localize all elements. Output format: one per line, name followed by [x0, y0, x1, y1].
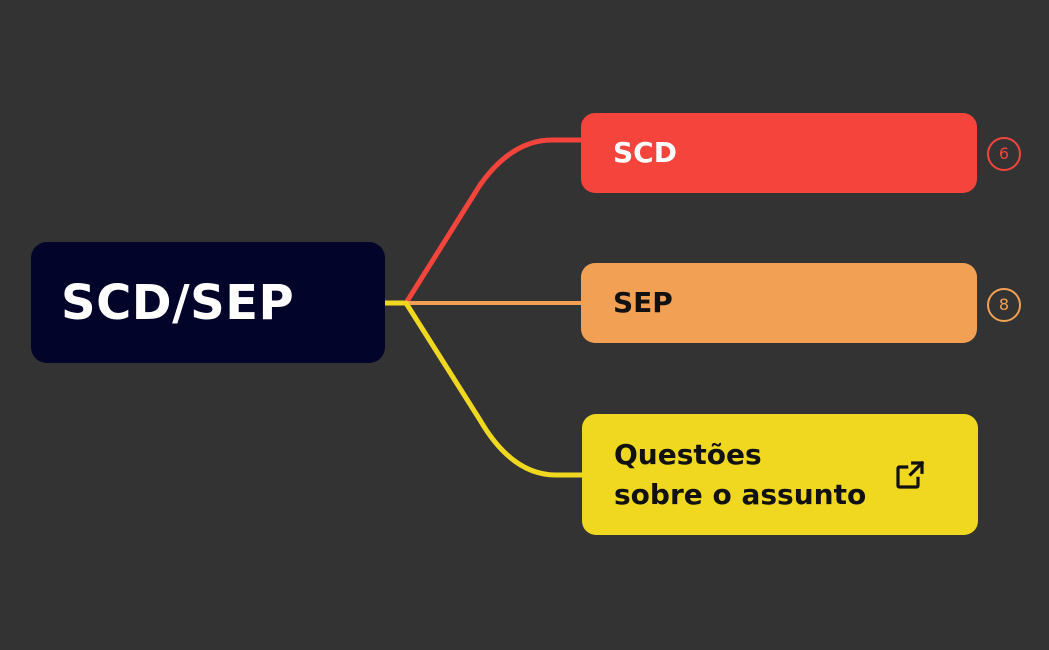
- mindmap-node-sep[interactable]: SEP: [581, 263, 977, 343]
- connector-to-scd: [406, 140, 584, 303]
- mindmap-node-questoes[interactable]: Questões sobre o assunto: [582, 414, 978, 535]
- connector-to-questoes: [406, 303, 585, 475]
- badge-scd-value: 6: [999, 146, 1009, 162]
- node-scd-label: SCD: [613, 139, 677, 167]
- mindmap-canvas: SCD/SEP SCD 6 SEP 8 Questões sobre o ass…: [0, 0, 1049, 650]
- mindmap-node-scd[interactable]: SCD: [581, 113, 977, 193]
- mindmap-root-node[interactable]: SCD/SEP: [31, 242, 385, 363]
- root-node-label: SCD/SEP: [61, 279, 294, 327]
- node-scd-count-badge[interactable]: 6: [987, 137, 1021, 171]
- node-sep-label: SEP: [613, 289, 673, 317]
- node-sep-count-badge[interactable]: 8: [987, 288, 1021, 322]
- external-link-icon[interactable]: [894, 459, 926, 491]
- badge-sep-value: 8: [999, 297, 1009, 313]
- node-questoes-label: Questões sobre o assunto: [614, 435, 866, 515]
